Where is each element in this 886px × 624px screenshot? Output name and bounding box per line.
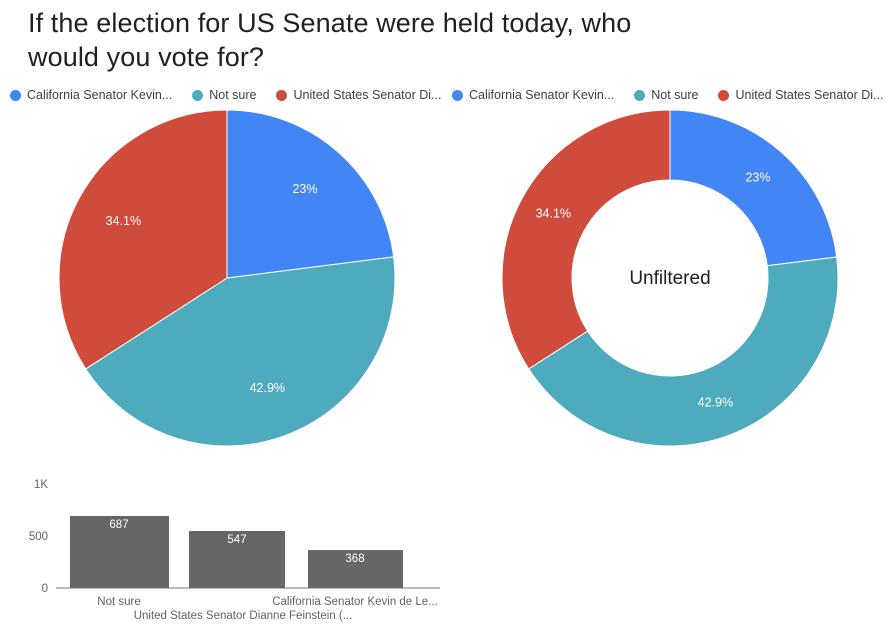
x-axis-category-label: United States Senator Dianne Feinstein (… — [134, 610, 353, 622]
donut-slice-red[interactable] — [502, 110, 670, 369]
legend-item-label: United States Senator Di... — [293, 88, 441, 102]
bar-value-label: 368 — [345, 553, 364, 565]
pie-slice-label: 42.9% — [250, 381, 285, 395]
pie-slice-label: 23% — [292, 182, 317, 196]
donut-center-label: Unfiltered — [629, 268, 710, 289]
bar-value-label: 687 — [109, 519, 128, 531]
legend-item-label: California Senator Kevin... — [27, 88, 172, 102]
bar-chart[interactable]: 1K 500 0 687 547 368 Not sure United Sta… — [0, 462, 470, 624]
legend-item-label: United States Senator Di... — [735, 88, 883, 102]
y-axis-tick-label: 500 — [29, 531, 48, 543]
pie-slices — [59, 110, 395, 446]
x-axis-category-label: Not sure — [97, 596, 140, 608]
circle-icon — [276, 90, 287, 101]
circle-icon — [10, 90, 21, 101]
page-title: If the election for US Senate were held … — [28, 6, 688, 74]
donut-slice-blue[interactable] — [670, 110, 837, 266]
legend-item[interactable]: California Senator Kevin... — [10, 88, 172, 102]
circle-icon — [192, 90, 203, 101]
legend-item[interactable]: Not sure — [634, 88, 698, 102]
bar-value-label: 547 — [227, 534, 246, 546]
circle-icon — [452, 90, 463, 101]
legend-item[interactable]: United States Senator Di... — [718, 88, 883, 102]
legend-item[interactable]: California Senator Kevin... — [452, 88, 614, 102]
legend-item[interactable]: Not sure — [192, 88, 256, 102]
x-axis-category-label: California Senator Kevin de Le... — [272, 596, 438, 608]
circle-icon — [634, 90, 645, 101]
donut-slice-label: 34.1% — [536, 207, 571, 221]
circle-icon — [718, 90, 729, 101]
legend-item-label: Not sure — [209, 88, 256, 102]
pie-slice-label: 34.1% — [106, 214, 141, 228]
donut-slice-label: 42.9% — [698, 395, 733, 409]
pie-chart[interactable]: 23% 42.9% 34.1% — [57, 108, 397, 448]
legend-right-chart: California Senator Kevin... Not sure Uni… — [452, 87, 886, 103]
legend-item[interactable]: United States Senator Di... — [276, 88, 441, 102]
donut-chart[interactable]: 23% 42.9% 34.1% Unfiltered — [500, 108, 840, 448]
donut-slice-label: 23% — [745, 170, 770, 184]
legend-item-label: California Senator Kevin... — [469, 88, 614, 102]
y-axis-tick-label: 0 — [42, 583, 48, 595]
legend-item-label: Not sure — [651, 88, 698, 102]
y-axis-tick-label: 1K — [34, 479, 48, 491]
legend-left-chart: California Senator Kevin... Not sure Uni… — [10, 87, 450, 103]
